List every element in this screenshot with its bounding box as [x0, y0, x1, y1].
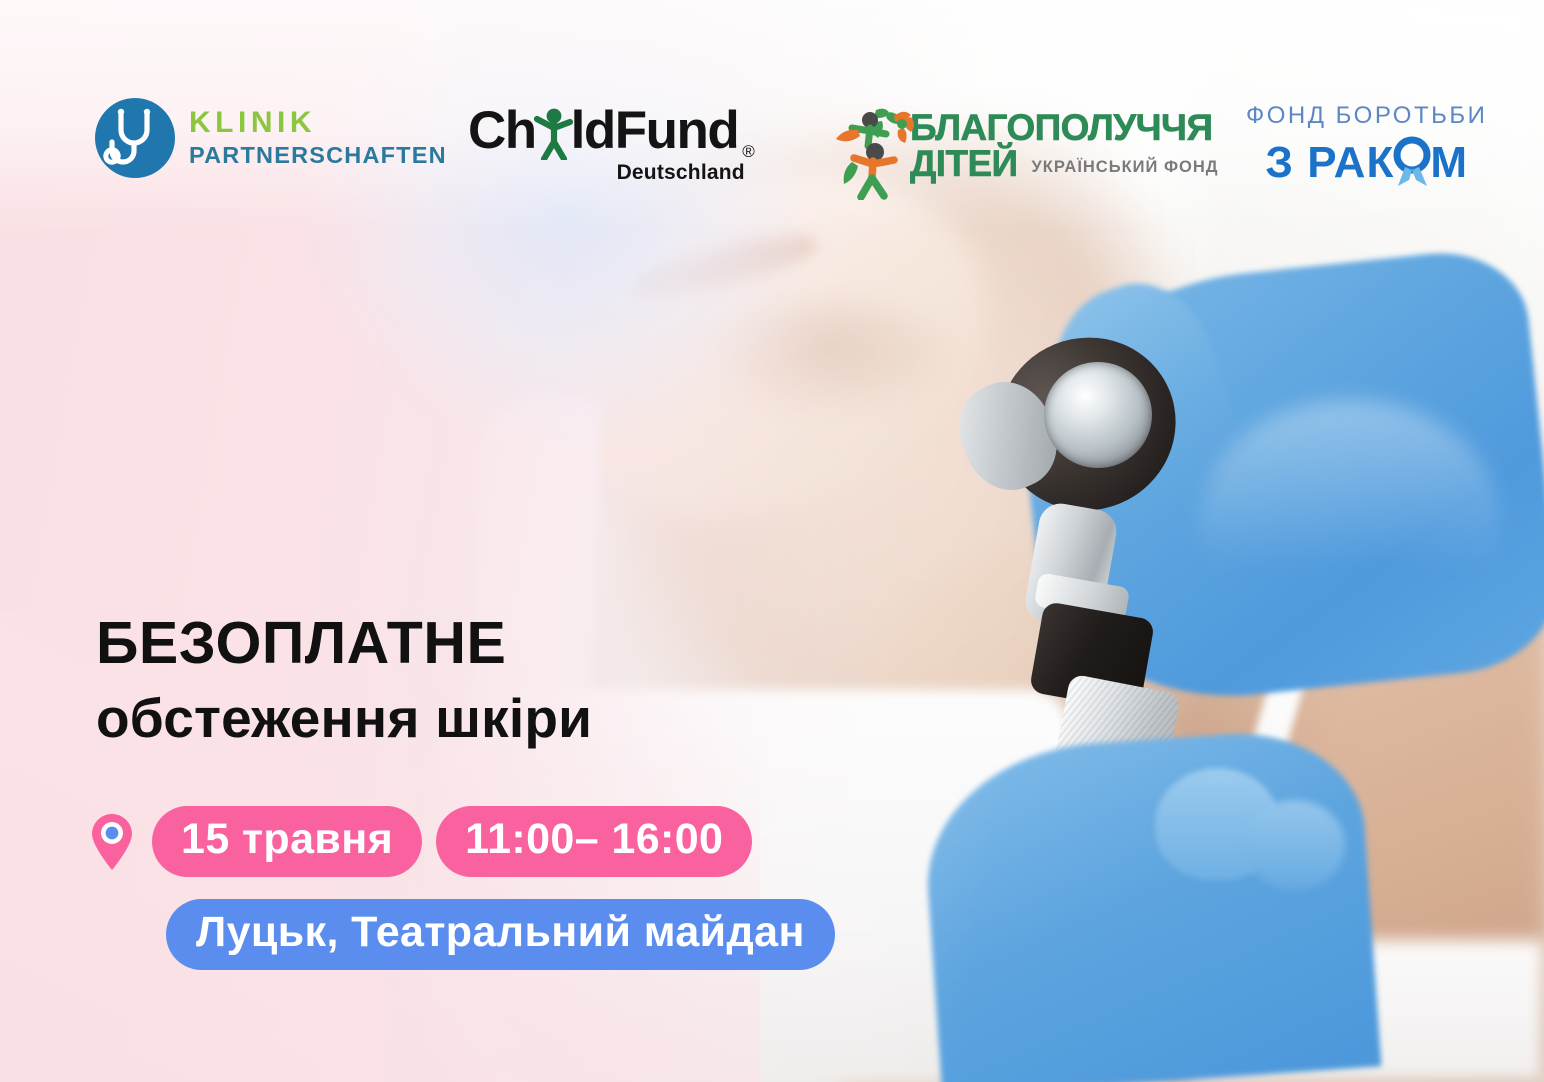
headline-block: БЕЗОПЛАТНЕ обстеження шкіри — [96, 612, 856, 748]
fond-line-2-before: З РАК — [1265, 141, 1394, 185]
fond-line-2-after: М — [1430, 141, 1468, 185]
klinik-line-1: KLINIK — [189, 108, 447, 138]
place-badge: Луцьк, Театральний майдан — [166, 899, 835, 970]
fond-wordmark: З РАК М — [1265, 136, 1468, 190]
location-pin-icon — [90, 812, 134, 872]
logo-childfund-deutschland: Ch ldFund ® Deutschland — [468, 104, 755, 185]
registered-mark-icon: ® — [742, 143, 755, 160]
campaign-banner: KLINIK PARTNERSCHAFTEN Ch ldFund ® Deuts… — [0, 0, 1544, 1082]
childfund-subtitle: Deutschland — [617, 161, 745, 185]
date-badge: 15 травня — [152, 806, 422, 877]
date-time-row: 15 травня 11:00– 16:00 — [90, 806, 752, 877]
headline-line-2: обстеження шкіри — [96, 689, 856, 748]
awareness-ribbon-icon — [1392, 136, 1432, 190]
blagopoluchchya-wordmark: БЛАГОПОЛУЧЧЯ ДІТЕЙ УКРАЇНСЬКИЙ ФОНД — [910, 110, 1219, 181]
logo-klinik-partnerschaften: KLINIK PARTNERSCHAFTEN — [95, 98, 447, 178]
klinik-wordmark: KLINIK PARTNERSCHAFTEN — [189, 108, 447, 168]
klinik-line-2: PARTNERSCHAFTEN — [189, 144, 447, 168]
blagopoluchchya-line-2: ДІТЕЙ — [910, 146, 1018, 182]
logo-fond-borotby-z-rakom: ФОНД БОРОТЬБИ З РАК М — [1246, 102, 1487, 190]
stethoscope-circle-icon — [95, 98, 175, 178]
blagopoluchchya-line-1: БЛАГОПОЛУЧЧЯ — [910, 110, 1219, 146]
logo-blagopoluchchya-ditey: БЛАГОПОЛУЧЧЯ ДІТЕЙ УКРАЇНСЬКИЙ ФОНД — [828, 96, 1219, 200]
time-badge: 11:00– 16:00 — [436, 806, 752, 877]
children-flowers-icon — [828, 100, 916, 200]
child-figure-icon — [533, 104, 573, 160]
blagopoluchchya-subtitle: УКРАЇНСЬКИЙ ФОНД — [1032, 160, 1219, 176]
headline-line-1: БЕЗОПЛАТНЕ — [96, 612, 856, 675]
childfund-word-2: ldFund — [571, 104, 739, 157]
sponsor-logo-bar: KLINIK PARTNERSCHAFTEN Ch ldFund ® Deuts… — [0, 96, 1544, 208]
childfund-word-1: Ch — [468, 104, 536, 157]
place-row: Луцьк, Театральний майдан — [166, 899, 835, 970]
fond-line-1: ФОНД БОРОТЬБИ — [1246, 102, 1487, 130]
childfund-wordmark: Ch ldFund ® — [468, 104, 755, 160]
